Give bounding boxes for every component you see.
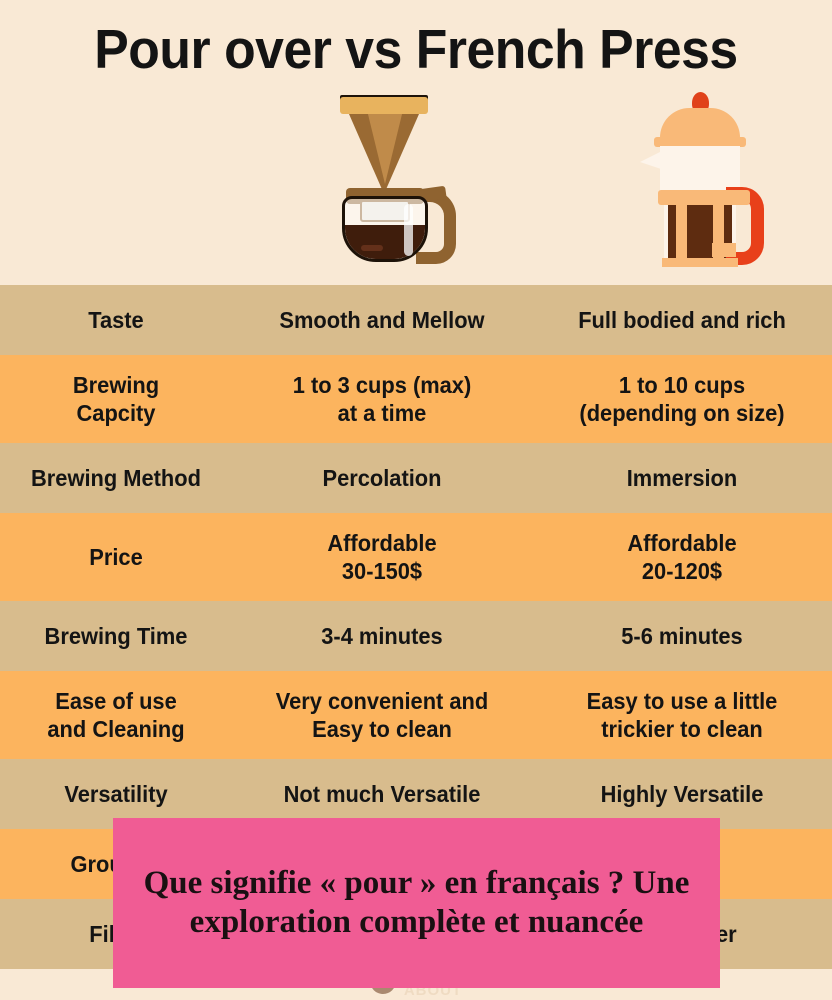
infographic-root: Pour over vs French Press — [0, 0, 832, 1000]
press-base — [662, 258, 738, 267]
illustration-row — [0, 92, 832, 272]
table-row: PriceAffordable30-150$Affordable20-120$ — [0, 513, 832, 601]
table-cell: Full bodied and rich — [540, 306, 825, 334]
table-row-label: Brewing Method — [6, 464, 226, 492]
table-row-label: BrewingCapcity — [6, 371, 226, 427]
table-cell: 5-6 minutes — [540, 622, 825, 650]
table-row: Ease of useand CleaningVery convenient a… — [0, 671, 832, 759]
table-cell: Percolation — [240, 464, 525, 492]
french-press-icon — [640, 92, 770, 267]
table-cell: 1 to 3 cups (max)at a time — [240, 371, 525, 427]
press-frame-left — [676, 198, 687, 267]
pour-over-dripper-icon — [320, 92, 490, 267]
table-cell: Affordable30-150$ — [240, 529, 525, 585]
table-row-label: Taste — [6, 306, 226, 334]
french-article-banner-text: Que signifie « pour » en français ? Une … — [113, 864, 720, 942]
french-article-banner[interactable]: Que signifie « pour » en français ? Une … — [113, 818, 720, 988]
table-cell: Very convenient andEasy to clean — [240, 687, 525, 743]
table-row-label: Ease of useand Cleaning — [6, 687, 226, 743]
carafe-coffee-highlight — [361, 245, 383, 251]
table-cell: Smooth and Mellow — [240, 306, 525, 334]
table-row: TasteSmooth and MellowFull bodied and ri… — [0, 285, 832, 355]
dripper-rim — [340, 97, 428, 114]
page-title: Pour over vs French Press — [25, 16, 807, 82]
press-handle-bar — [712, 243, 736, 257]
table-cell: Immersion — [540, 464, 825, 492]
table-row: Brewing MethodPercolationImmersion — [0, 443, 832, 513]
table-cell: 3-4 minutes — [240, 622, 525, 650]
table-row-label: Brewing Time — [6, 622, 226, 650]
table-cell: Affordable20-120$ — [540, 529, 825, 585]
table-row: BrewingCapcity1 to 3 cups (max)at a time… — [0, 355, 832, 443]
table-row-label: Versatility — [6, 780, 226, 808]
carafe-glass-highlight — [404, 204, 413, 256]
press-mid-band — [658, 190, 750, 205]
table-row: Brewing Time3-4 minutes5-6 minutes — [0, 601, 832, 671]
carafe-glass — [342, 196, 428, 262]
dripper-cone-inner-shape — [366, 106, 404, 184]
press-spout — [640, 150, 664, 170]
table-cell: Highly Versatile — [540, 780, 825, 808]
table-cell: Easy to use a littletrickier to clean — [540, 687, 825, 743]
header: Pour over vs French Press — [0, 0, 832, 285]
table-cell: Not much Versatile — [240, 780, 525, 808]
table-row-label: Price — [6, 543, 226, 571]
carafe-coffee-fill — [345, 225, 425, 259]
table-cell: 1 to 10 cups(depending on size) — [540, 371, 825, 427]
